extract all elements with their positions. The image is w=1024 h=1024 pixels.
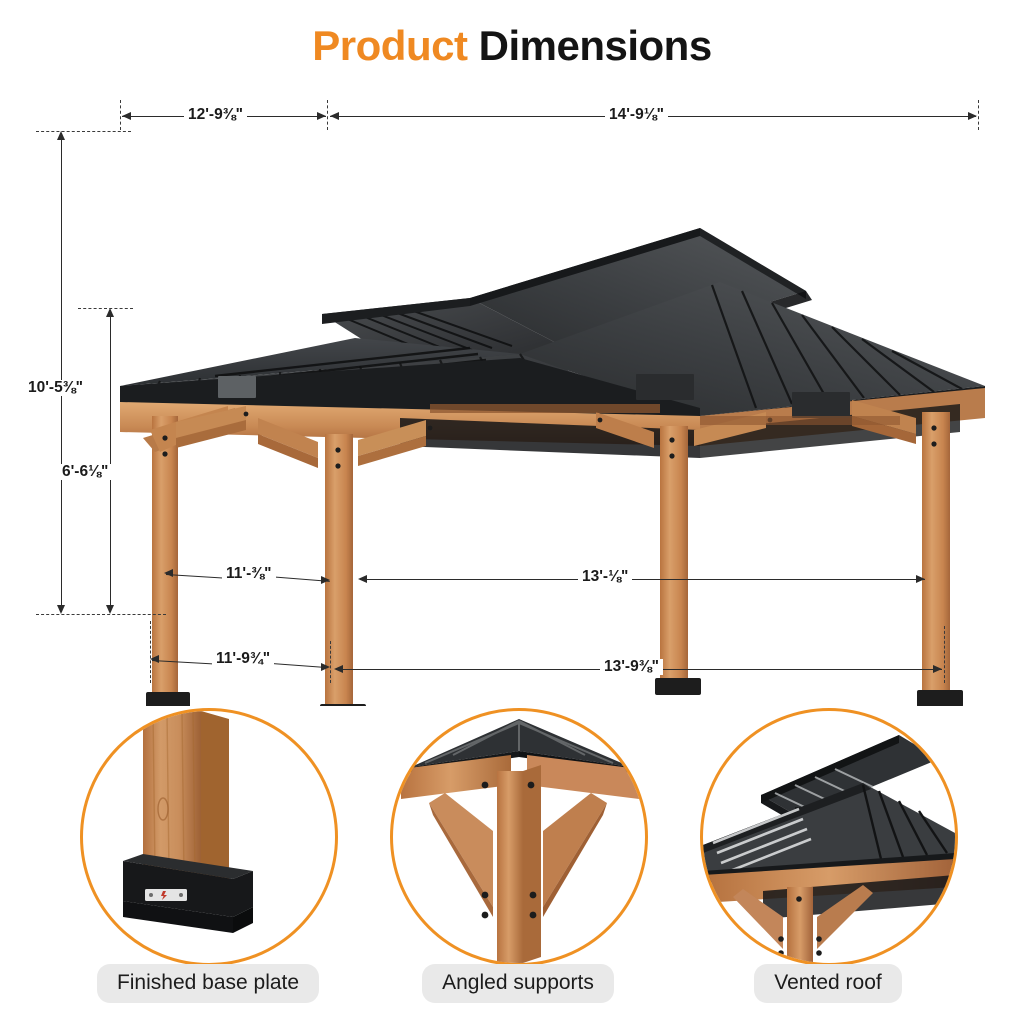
dim-line-post-height xyxy=(110,310,111,612)
dimension-diagram: 12'-9⅜" 14'-9⅛" 10'-5⅜" 6'-6⅛" 11'-⅜" 13… xyxy=(0,86,1024,706)
arrow-left-roof-span-start xyxy=(122,112,131,120)
ext-line-base-mid xyxy=(330,641,331,683)
ext-line-top-right xyxy=(978,100,979,130)
dim-label-post-span-right: 13'-⅛" xyxy=(578,569,632,585)
dim-line-post-span-right xyxy=(360,579,925,580)
feature-finished-base-plate: Finished base plate xyxy=(58,706,358,1024)
page-title: Product Dimensions xyxy=(0,22,1024,70)
arrow-base-span-right-end xyxy=(933,665,942,673)
arrow-post-span-left-end xyxy=(321,576,330,584)
feature-image-vented-roof xyxy=(700,708,958,966)
dim-label-overall-height: 10'-5⅜" xyxy=(24,380,87,396)
feature-angled-supports: Angled supports xyxy=(368,706,668,1024)
arrow-overall-height-bottom xyxy=(57,605,65,614)
arrow-right-roof-span-end xyxy=(968,112,977,120)
ext-line-base-right xyxy=(944,626,945,683)
dim-label-post-span-left: 11'-⅜" xyxy=(222,566,276,582)
feature-callouts: Finished base plate xyxy=(0,706,1024,1024)
feature-image-finished-base-plate xyxy=(80,708,338,966)
arrow-base-span-left-start xyxy=(150,655,159,663)
arrow-post-height-bottom xyxy=(106,605,114,614)
ext-line-roof-top xyxy=(36,131,131,132)
dim-label-roof-right-span: 14'-9⅛" xyxy=(605,107,668,123)
dim-label-roof-left-span: 12'-9⅜" xyxy=(184,107,247,123)
ext-line-top-mid xyxy=(327,100,328,130)
ext-line-top-left xyxy=(120,100,121,130)
arrow-right-roof-span-start xyxy=(330,112,339,120)
dim-label-base-span-left: 11'-9¾" xyxy=(212,651,274,667)
gazebo-illustration xyxy=(0,86,1024,706)
arrow-post-span-right-start xyxy=(358,575,367,583)
dim-line-overall-height xyxy=(61,133,62,612)
ext-line-ground xyxy=(36,614,166,615)
feature-caption-angled-supports: Angled supports xyxy=(368,964,668,1003)
arrow-post-height-top xyxy=(106,308,114,317)
arrow-base-span-right-start xyxy=(334,665,343,673)
title-main-word: Dimensions xyxy=(479,22,712,69)
ext-line-base-left xyxy=(150,621,151,683)
dim-label-base-span-right: 13'-9⅜" xyxy=(600,659,663,675)
feature-vented-roof: Vented roof xyxy=(678,706,978,1024)
feature-caption-vented-roof: Vented roof xyxy=(678,964,978,1003)
arrow-post-span-right-end xyxy=(916,575,925,583)
arrow-base-span-left-end xyxy=(321,663,330,671)
arrow-post-span-left-start xyxy=(164,569,173,577)
arrow-left-roof-span-end xyxy=(317,112,326,120)
feature-image-angled-supports xyxy=(390,708,648,966)
arrow-overall-height-top xyxy=(57,131,65,140)
feature-caption-finished-base-plate: Finished base plate xyxy=(58,964,358,1003)
dim-label-post-height: 6'-6⅛" xyxy=(58,464,112,480)
title-accent-word: Product xyxy=(312,22,467,69)
